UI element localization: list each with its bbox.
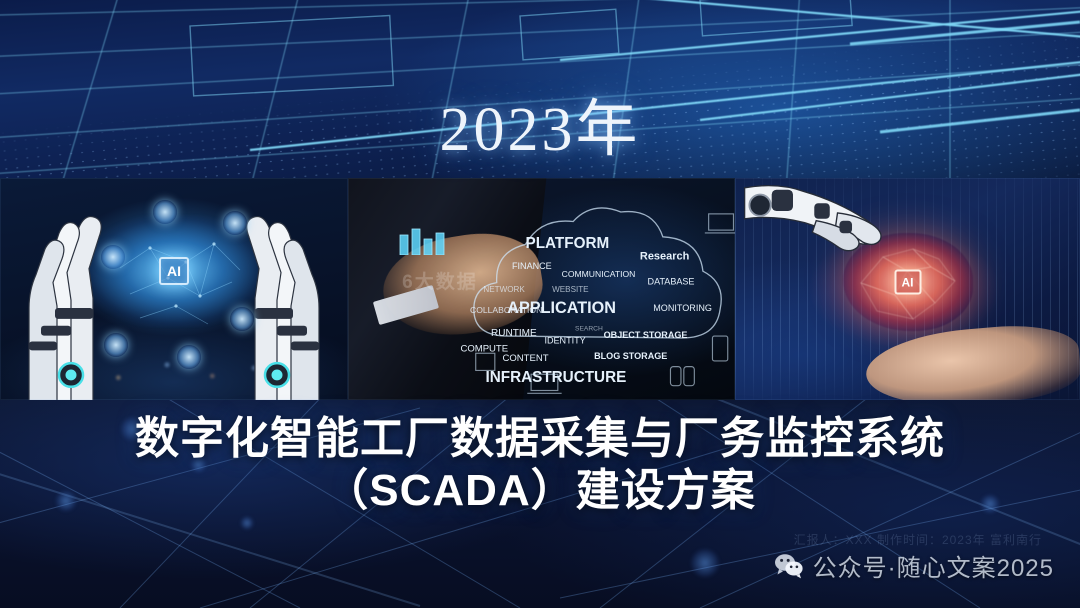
page-title-line-2: （SCADA）建设方案	[0, 465, 1080, 517]
page-title-line-1: 数字化智能工厂数据采集与厂务监控系统	[135, 414, 945, 463]
cloud-term-runtime: RUNTIME	[491, 328, 537, 339]
ai-chip-label-red: AI	[894, 270, 921, 295]
cloud-term-website: WEBSITE	[552, 285, 589, 294]
presentation-cover-slide: 2023年	[0, 0, 1080, 608]
ai-chip-label: AI	[159, 257, 189, 285]
cloud-term-finance: FINANCE	[512, 262, 552, 272]
cloud-word-diagram: PLATFORM FINANCE COMMUNICATION Research …	[449, 191, 735, 395]
cloud-term-database: DATABASE	[647, 277, 694, 287]
image-robot-human-hand-red-brain: AI	[735, 178, 1080, 400]
wechat-account-label: 公众号·随心文案2025	[813, 548, 1054, 583]
cloud-term-collaboration: COLLABORATION	[470, 305, 542, 315]
image-businessman-cloud-platform: PLATFORM FINANCE COMMUNICATION Research …	[348, 178, 735, 400]
cloud-term-blog-storage: BLOG STORAGE	[594, 351, 667, 361]
cloud-term-infrastructure: INFRASTRUCTURE	[485, 369, 626, 386]
stock-photo-watermark: 6大数据	[402, 267, 478, 294]
cloud-term-research: Research	[640, 251, 690, 263]
robot-hand-pointing-icon	[742, 182, 921, 257]
page-title: 数字化智能工厂数据采集与厂务监控系统 （SCADA）建设方案	[0, 413, 1080, 517]
cloud-term-network: NETWORK	[483, 285, 525, 294]
cloud-term-object-storage: OBJECT STORAGE	[603, 330, 687, 340]
hologram-bar-chart-icon	[398, 227, 446, 255]
credit-line: 汇报人：XXX 制作时间：2023年 富利南行	[0, 531, 1080, 548]
cloud-term-content: CONTENT	[502, 353, 548, 364]
year-title: 2023年	[0, 78, 1080, 168]
cloud-term-monitoring: MONITORING	[653, 304, 712, 314]
photo-band: AI PLAT	[0, 178, 1080, 400]
cloud-term-identity: IDENTITY	[544, 336, 585, 346]
wechat-icon	[774, 553, 804, 579]
cloud-term-platform: PLATFORM	[525, 236, 609, 253]
wechat-watermark: 公众号·随心文案2025	[774, 548, 1054, 583]
cloud-term-communication: COMMUNICATION	[561, 269, 635, 279]
cloud-term-search: SEARCH	[575, 326, 603, 333]
image-robot-hands-ai-brain: AI	[0, 178, 348, 400]
